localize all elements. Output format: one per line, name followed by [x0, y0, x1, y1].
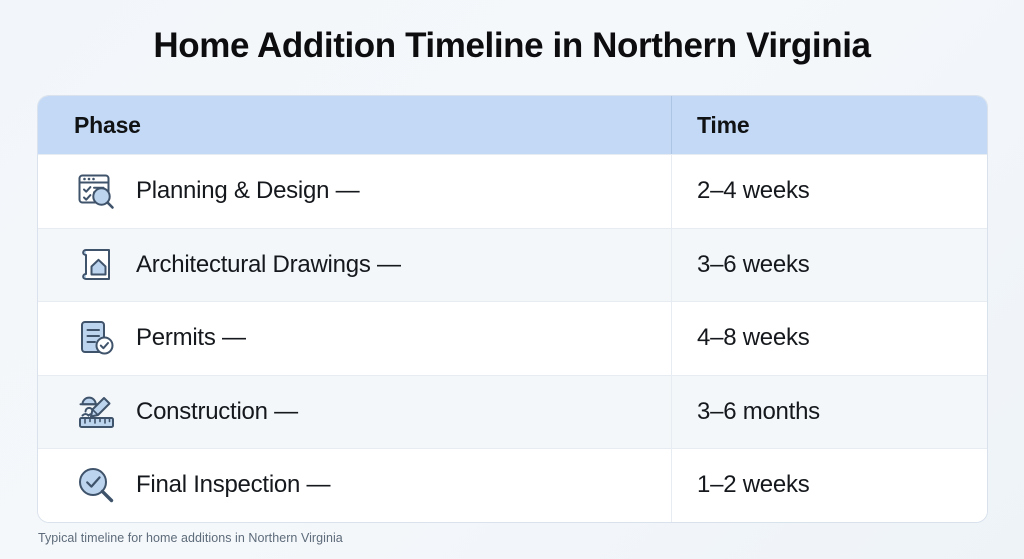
phase-label: Construction —: [136, 398, 298, 426]
row-cell-phase: Final Inspection —: [38, 449, 672, 522]
table-row: Final Inspection — 1–2 weeks: [38, 448, 987, 522]
magnifier-check-icon: [74, 463, 118, 507]
planning-checklist-search-icon: [74, 169, 118, 213]
column-header-phase: Phase: [74, 112, 141, 139]
row-cell-phase: Construction —: [38, 376, 672, 449]
phase-label: Permits —: [136, 324, 246, 352]
table-row: Permits — 4–8 weeks: [38, 301, 987, 375]
timeline-table: Phase Time: [38, 96, 987, 522]
table-row: Planning & Design — 2–4 weeks: [38, 154, 987, 228]
time-label: 4–8 weeks: [697, 324, 810, 352]
time-label: 2–4 weeks: [697, 177, 810, 205]
column-header-time: Time: [697, 112, 749, 139]
row-cell-time: 3–6 months: [672, 376, 987, 449]
phase-label: Final Inspection —: [136, 471, 330, 499]
time-label: 3–6 months: [697, 398, 820, 426]
document-check-icon: [74, 316, 118, 360]
phase-label: Architectural Drawings —: [136, 251, 401, 279]
row-cell-phase: Planning & Design —: [38, 155, 672, 228]
table-caption: Typical timeline for home additions in N…: [38, 531, 343, 545]
row-cell-time: 3–6 weeks: [672, 229, 987, 302]
row-cell-time: 4–8 weeks: [672, 302, 987, 375]
page-title: Home Addition Timeline in Northern Virgi…: [0, 24, 1024, 68]
row-cell-time: 1–2 weeks: [672, 449, 987, 522]
row-cell-phase: Permits —: [38, 302, 672, 375]
header-cell-phase: Phase: [38, 96, 672, 154]
row-cell-time: 2–4 weeks: [672, 155, 987, 228]
table-header-row: Phase Time: [38, 96, 987, 154]
infographic-page: Home Addition Timeline in Northern Virgi…: [0, 0, 1024, 559]
row-cell-phase: Architectural Drawings —: [38, 229, 672, 302]
table-row: Architectural Drawings — 3–6 weeks: [38, 228, 987, 302]
time-label: 3–6 weeks: [697, 251, 810, 279]
table-row: Construction — 3–6 months: [38, 375, 987, 449]
blueprint-house-icon: [74, 243, 118, 287]
phase-label: Planning & Design —: [136, 177, 359, 205]
time-label: 1–2 weeks: [697, 471, 810, 499]
header-cell-time: Time: [672, 96, 987, 154]
construction-worker-ruler-icon: [74, 390, 118, 434]
